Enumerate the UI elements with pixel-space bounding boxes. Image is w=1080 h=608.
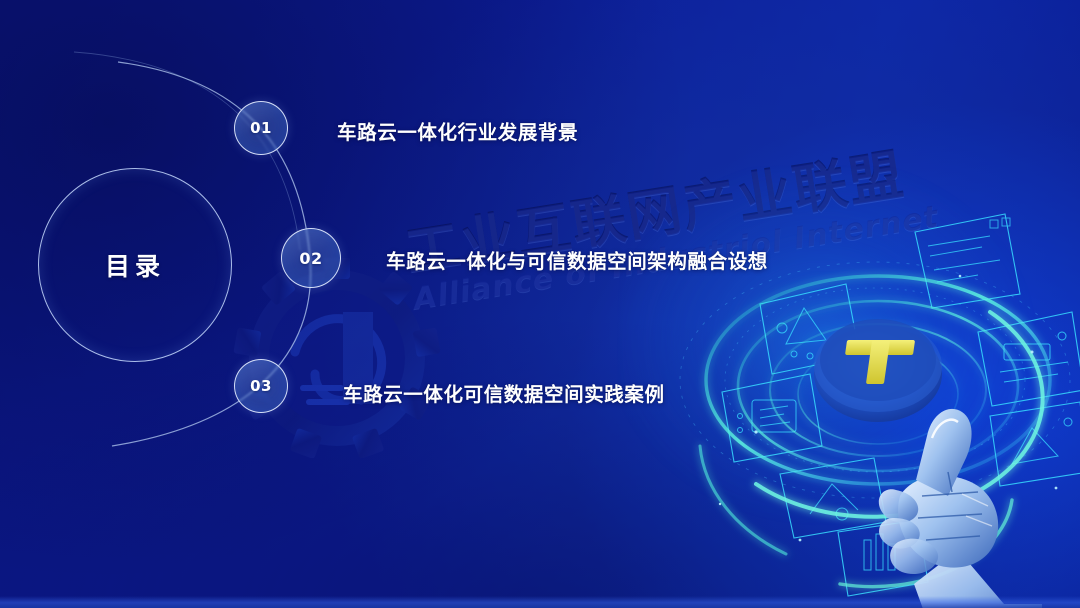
toc-badge-03[interactable]: 03 <box>234 359 288 413</box>
toc-item-title-01[interactable]: 车路云一体化行业发展背景 <box>337 116 578 145</box>
toc-badge-number-01: 01 <box>250 119 272 137</box>
toc-badge-02[interactable]: 02 <box>281 228 341 288</box>
toc-center-circle: 目录 <box>38 168 232 362</box>
toc-item-title-02[interactable]: 车路云一体化与可信数据空间架构融合设想 <box>386 245 768 274</box>
toc-badge-number-02: 02 <box>299 249 322 268</box>
bottom-highlight-band <box>0 596 1080 608</box>
toc-item-title-03[interactable]: 车路云一体化可信数据空间实践案例 <box>343 378 665 407</box>
toc-badge-number-03: 03 <box>250 377 272 395</box>
page-title: 目录 <box>105 247 165 283</box>
toc-badge-01[interactable]: 01 <box>234 101 288 155</box>
presentation-slide: 工业互联网产业联盟 Alliance of Industriol Interne… <box>0 0 1080 608</box>
